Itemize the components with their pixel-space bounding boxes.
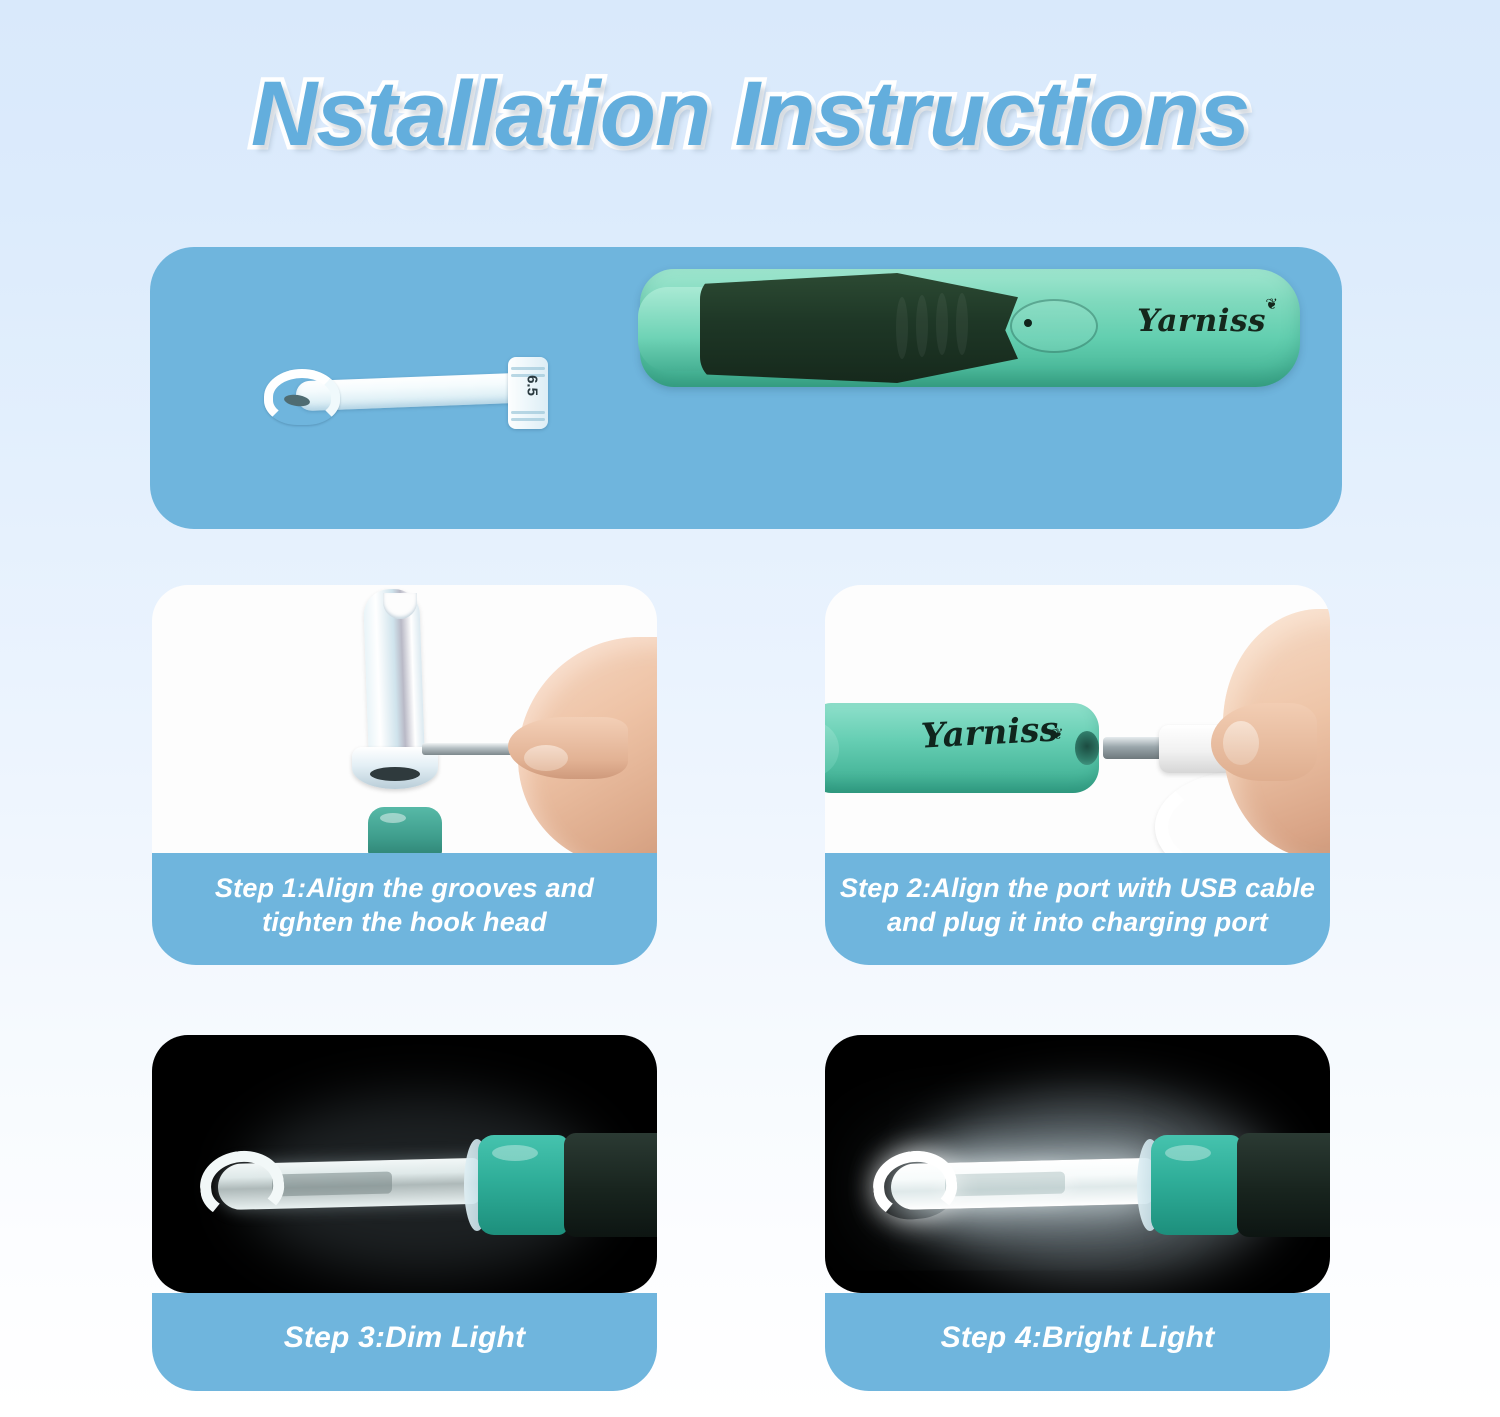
brand-flourish-icon: ❦ bbox=[1051, 725, 1064, 743]
led-core bbox=[945, 1172, 1065, 1197]
teal-collar bbox=[478, 1135, 568, 1235]
product-handle: Yarniss ❦ bbox=[640, 269, 1300, 387]
step-3-photo bbox=[152, 1035, 657, 1293]
crochet-hook-head: 6.5 bbox=[258, 355, 573, 425]
dark-handle-body bbox=[564, 1133, 657, 1237]
led-core bbox=[272, 1172, 392, 1197]
hook-tip bbox=[264, 369, 340, 425]
power-button[interactable] bbox=[1010, 299, 1098, 353]
step-card-1: Step 1:Align the grooves and tighten the… bbox=[152, 585, 657, 965]
step-card-2: Yarniss ❦ Step 2:Align the port with USB… bbox=[825, 585, 1330, 965]
power-indicator-dot bbox=[1024, 319, 1032, 327]
brand-logo-text: Yarniss bbox=[1137, 303, 1266, 339]
teal-collar bbox=[1151, 1135, 1241, 1235]
usb-plug-pin bbox=[1103, 737, 1163, 759]
hook-size-label: 6.5 bbox=[524, 371, 541, 401]
product-overview-panel: 6.5 Yarniss ❦ bbox=[150, 247, 1342, 529]
step-3-caption: Step 3:Dim Light bbox=[152, 1293, 657, 1391]
brand-logo-text: Yarniss bbox=[920, 709, 1059, 756]
step-1-photo bbox=[152, 585, 657, 853]
step-card-4: Step 4:Bright Light bbox=[825, 1035, 1330, 1391]
teal-handle-tip bbox=[368, 807, 442, 853]
page-title: Nstallation Instructions bbox=[251, 62, 1249, 167]
step-4-caption: Step 4:Bright Light bbox=[825, 1293, 1330, 1391]
thumbnail bbox=[1223, 721, 1259, 765]
charging-port bbox=[1075, 731, 1099, 765]
dark-handle-body bbox=[1237, 1133, 1330, 1237]
brand-flourish-icon: ❦ bbox=[1265, 295, 1278, 313]
step-2-photo: Yarniss ❦ bbox=[825, 585, 1330, 853]
step-card-3: Step 3:Dim Light bbox=[152, 1035, 657, 1391]
page-title-container: Nstallation Instructions bbox=[0, 62, 1500, 167]
step-2-caption: Step 2:Align the port with USB cable and… bbox=[825, 853, 1330, 965]
step-4-photo bbox=[825, 1035, 1330, 1293]
fingernail bbox=[524, 745, 568, 771]
step-1-caption: Step 1:Align the grooves and tighten the… bbox=[152, 853, 657, 965]
rubber-grip bbox=[700, 273, 1018, 383]
finger bbox=[508, 717, 628, 779]
hook-collar: 6.5 bbox=[508, 357, 548, 429]
